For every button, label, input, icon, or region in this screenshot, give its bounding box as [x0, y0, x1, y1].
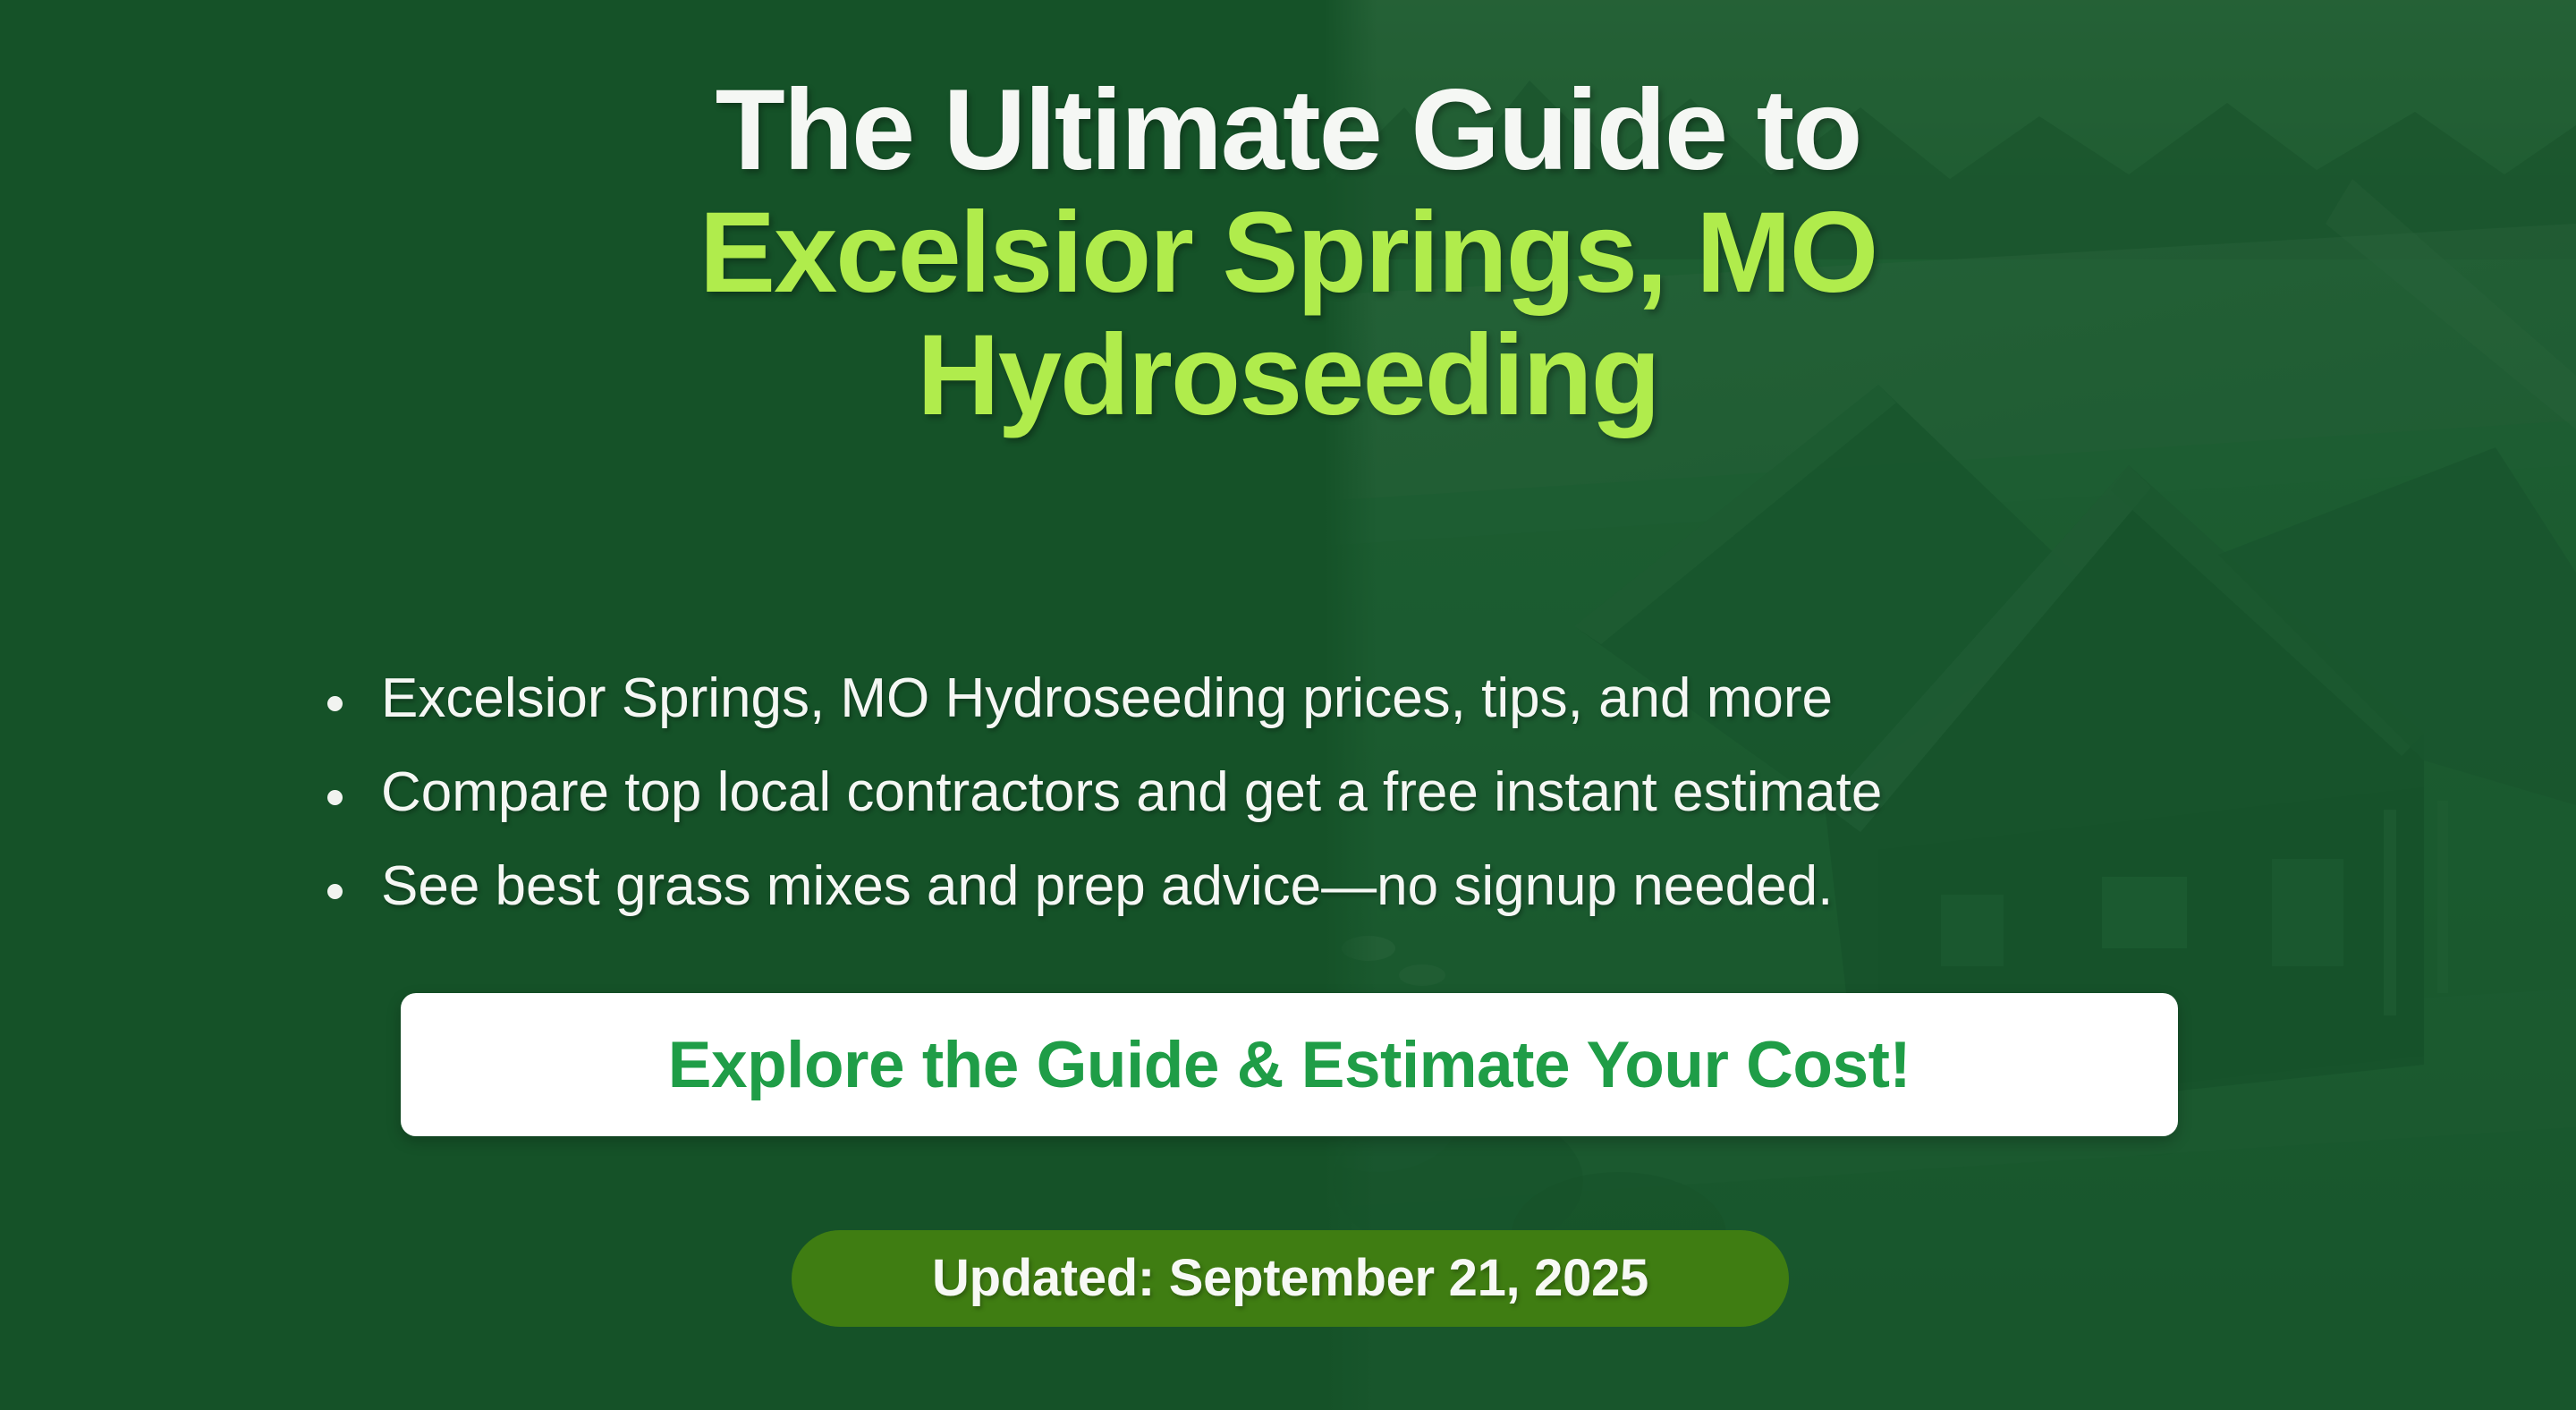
last-updated-badge: Updated: September 21, 2025 [792, 1230, 1789, 1327]
benefits-list: Excelsior Springs, MO Hydroseeding price… [315, 671, 2193, 953]
title-line-1: The Ultimate Guide to [268, 70, 2308, 192]
page-title: The Ultimate Guide to Excelsior Springs,… [268, 70, 2308, 437]
title-line-2: Excelsior Springs, MO [268, 192, 2308, 315]
list-item: See best grass mixes and prep advice—no … [315, 859, 2193, 914]
list-item: Excelsior Springs, MO Hydroseeding price… [315, 671, 2193, 726]
hero-banner: The Ultimate Guide to Excelsior Springs,… [0, 0, 2576, 1410]
explore-guide-cta-button[interactable]: Explore the Guide & Estimate Your Cost! [401, 993, 2178, 1136]
list-item: Compare top local contractors and get a … [315, 765, 2193, 820]
title-line-3: Hydroseeding [268, 315, 2308, 437]
